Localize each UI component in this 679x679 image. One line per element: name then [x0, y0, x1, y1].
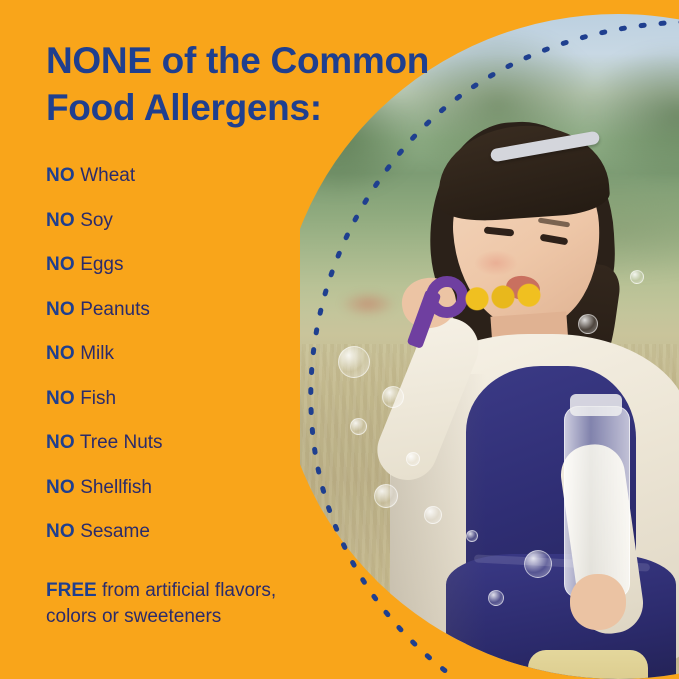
bubble-wand-beads [463, 281, 543, 312]
allergen-name: Soy [80, 210, 113, 231]
no-prefix: NO [46, 165, 75, 186]
bubble [524, 550, 552, 578]
no-prefix: NO [46, 343, 75, 364]
bubble [630, 270, 644, 284]
no-prefix: NO [46, 432, 75, 453]
bubble [338, 346, 370, 378]
no-prefix: NO [46, 521, 75, 542]
free-line-1: from artificial flavors, [97, 580, 276, 601]
allergen-name: Shellfish [80, 477, 152, 498]
no-prefix: NO [46, 254, 75, 275]
bubble-bottle [564, 406, 630, 598]
allergen-name: Milk [80, 343, 114, 364]
bubble [350, 418, 367, 435]
bubble [466, 530, 478, 542]
no-prefix: NO [46, 210, 75, 231]
child-hand-lower [570, 574, 626, 630]
no-prefix: NO [46, 299, 75, 320]
list-item: NO Peanuts [46, 300, 296, 319]
allergen-list: NO Wheat NO Soy NO Eggs NO Peanuts NO Mi… [46, 166, 296, 567]
free-prefix: FREE [46, 580, 97, 601]
list-item: NO Fish [46, 389, 296, 408]
bubble-bottle-cap [570, 394, 622, 416]
list-item: NO Tree Nuts [46, 433, 296, 452]
list-item: NO Soy [46, 211, 296, 230]
allergen-name: Wheat [80, 165, 135, 186]
bubble [488, 590, 504, 606]
list-item: NO Milk [46, 344, 296, 363]
bubble [374, 484, 398, 508]
no-prefix: NO [46, 388, 75, 409]
bubble [406, 452, 420, 466]
bubble [424, 506, 442, 524]
allergen-name: Tree Nuts [80, 432, 163, 453]
headline-line-1: NONE of the Common [46, 38, 566, 85]
headline-line-2: Food Allergens: [46, 85, 566, 132]
allergen-name: Sesame [80, 521, 150, 542]
page-title: NONE of the Common Food Allergens: [46, 38, 566, 131]
allergen-name: Peanuts [80, 299, 150, 320]
free-line-2: colors or sweeteners [46, 606, 221, 627]
list-item: NO Wheat [46, 166, 296, 185]
bubble [578, 314, 598, 334]
bubble-wand-ring [426, 276, 468, 318]
allergen-name: Fish [80, 388, 116, 409]
bubble [382, 386, 404, 408]
allergen-name: Eggs [80, 254, 123, 275]
allergen-info-poster: NONE of the Common Food Allergens: NO Wh… [0, 0, 679, 679]
list-item: NO Eggs [46, 255, 296, 274]
list-item: NO Sesame [46, 522, 296, 541]
child-leggings [528, 650, 648, 679]
no-prefix: NO [46, 477, 75, 498]
free-from-note: FREE from artificial flavors, colors or … [46, 578, 326, 630]
list-item: NO Shellfish [46, 478, 296, 497]
child-cheek [474, 250, 518, 276]
